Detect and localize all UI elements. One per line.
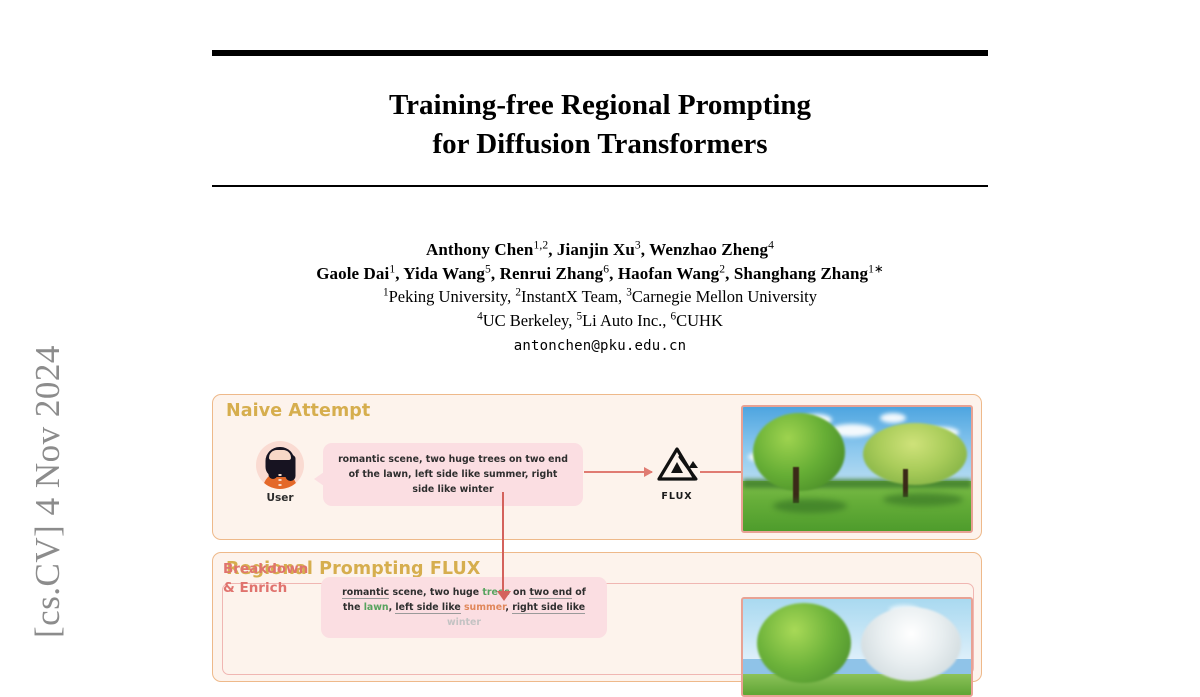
prompt-token: lawn — [364, 602, 389, 613]
top-rule — [212, 50, 988, 56]
figure-panel-regional-prompting: Regional Prompting FLUX Breakdown & Enri… — [212, 552, 982, 682]
prompt-token: romantic — [342, 587, 389, 599]
generated-image-naive[interactable] — [741, 405, 973, 533]
generated-image-regional[interactable] — [741, 597, 973, 697]
author-block: Anthony Chen1,2, Jianjin Xu3, Wenzhao Zh… — [212, 238, 988, 359]
user-label: User — [245, 492, 315, 504]
prompt-bubble-regional: romantic scene, two huge trees on two en… — [321, 577, 607, 638]
stage-label-line-1: Breakdown — [223, 561, 308, 577]
page-title: Training-free Regional Prompting for Dif… — [212, 86, 988, 164]
author-name: , Jianjin Xu — [548, 240, 635, 259]
prompt-token: summer — [464, 602, 505, 613]
author-affil-marker: 1∗ — [868, 262, 884, 275]
arrow-naive-to-regional — [502, 492, 504, 592]
flux-label: FLUX — [650, 491, 704, 502]
author-name: Anthony Chen — [426, 240, 533, 259]
stage-label-breakdown-enrich: Breakdown & Enrich — [223, 560, 308, 598]
contact-email[interactable]: antonchen@pku.edu.cn — [212, 335, 988, 359]
title-line-2: for Diffusion Transformers — [212, 125, 988, 164]
affil-name: Li Auto Inc., — [582, 311, 670, 330]
author-affil-marker: 4 — [768, 238, 774, 251]
arrow-to-model-icon — [584, 471, 652, 473]
avatar — [256, 441, 304, 489]
panel-title-naive: Naive Attempt — [226, 401, 370, 421]
author-name: , Shanghang Zhang — [725, 264, 868, 283]
author-name: , Wenzhao Zheng — [641, 240, 768, 259]
affiliation-line-1: 1Peking University, 2InstantX Team, 3Car… — [212, 285, 988, 309]
affil-name: CUHK — [676, 311, 723, 330]
prompt-token: two end — [529, 587, 572, 599]
author-name: Gaole Dai — [316, 264, 389, 283]
affil-name: InstantX Team, — [521, 287, 626, 306]
affiliation-line-2: 4UC Berkeley, 5Li Auto Inc., 6CUHK — [212, 309, 988, 333]
affil-name: UC Berkeley, — [483, 311, 577, 330]
title-line-1: Training-free Regional Prompting — [212, 86, 988, 125]
stage-label-line-2: & Enrich — [223, 580, 287, 596]
author-affil-marker: 1,2 — [533, 238, 548, 251]
arxiv-stamp: [cs.CV] 4 Nov 2024 — [22, 278, 74, 638]
author-name: , Haofan Wang — [609, 264, 719, 283]
affil-name: Carnegie Mellon University — [632, 287, 817, 306]
prompt-token: left side like — [395, 602, 460, 614]
prompt-token: right side like — [512, 602, 585, 614]
user-block: User — [245, 441, 315, 504]
prompt-line-2: lawn, left side like summer, right side … — [383, 469, 557, 495]
figure-panel-naive-attempt: Naive Attempt User romantic scene, two h… — [212, 394, 982, 540]
prompt-token: winter — [447, 617, 481, 628]
paper-column: Training-free Regional Prompting for Dif… — [212, 0, 988, 648]
prompt-token: on — [510, 587, 530, 598]
flux-logo-icon — [650, 445, 704, 485]
flux-model-block: FLUX — [650, 445, 704, 502]
author-name: , Yida Wang — [395, 264, 485, 283]
author-line-2: Gaole Dai1, Yida Wang5, Renrui Zhang6, H… — [212, 262, 988, 286]
title-rule — [212, 185, 988, 187]
author-line-1: Anthony Chen1,2, Jianjin Xu3, Wenzhao Zh… — [212, 238, 988, 262]
prompt-token: scene, two huge — [389, 587, 482, 598]
author-name: , Renrui Zhang — [491, 264, 603, 283]
prompt-token-list: romantic scene, two huge trees on two en… — [342, 587, 586, 628]
prompt-bubble-naive: romantic scene, two huge trees on two en… — [323, 443, 583, 506]
affil-name: Peking University, — [389, 287, 516, 306]
